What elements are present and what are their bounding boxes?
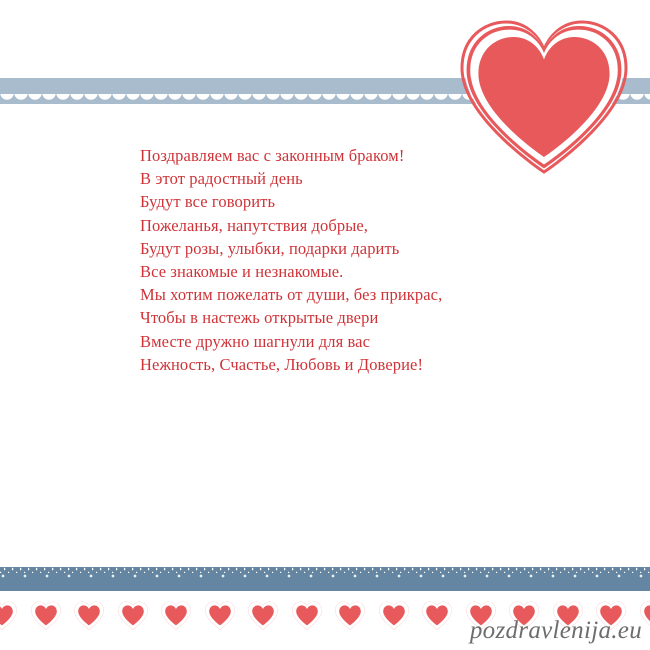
heart-icon: [334, 600, 366, 630]
greeting-card: Поздравляем вас с законным браком! В это…: [0, 0, 650, 650]
poem-line: В этот радостный день: [140, 167, 580, 190]
heart-icon: [160, 600, 192, 630]
heart-icon: [247, 600, 279, 630]
poem-line: Пожеланья, напутствия добрые,: [140, 214, 580, 237]
poem-line: Будут розы, улыбки, подарки дарить: [140, 237, 580, 260]
poem-line: Чтобы в настежь открытые двери: [140, 306, 580, 329]
heart-icon: [421, 600, 453, 630]
heart-icon: [291, 600, 323, 630]
heart-icon: [378, 600, 410, 630]
poem-line: Мы хотим пожелать от души, без прикрас,: [140, 283, 580, 306]
heart-icon: [73, 600, 105, 630]
heart-icon: [204, 600, 236, 630]
heart-icon: [117, 600, 149, 630]
watermark-text: pozdravlenija.eu: [470, 617, 642, 645]
poem-line: Будут все говорить: [140, 190, 580, 213]
poem-line: Поздравляем вас с законным браком!: [140, 144, 580, 167]
poem-text-block: Поздравляем вас с законным браком! В это…: [140, 144, 580, 376]
poem-line: Вместе дружно шагнули для вас: [140, 330, 580, 353]
heart-icon: [30, 600, 62, 630]
bottom-band-dots: [0, 573, 650, 580]
heart-icon: [0, 600, 18, 630]
poem-line: Все знакомые и незнакомые.: [140, 260, 580, 283]
poem-line: Нежность, Счастье, Любовь и Доверие!: [140, 353, 580, 376]
